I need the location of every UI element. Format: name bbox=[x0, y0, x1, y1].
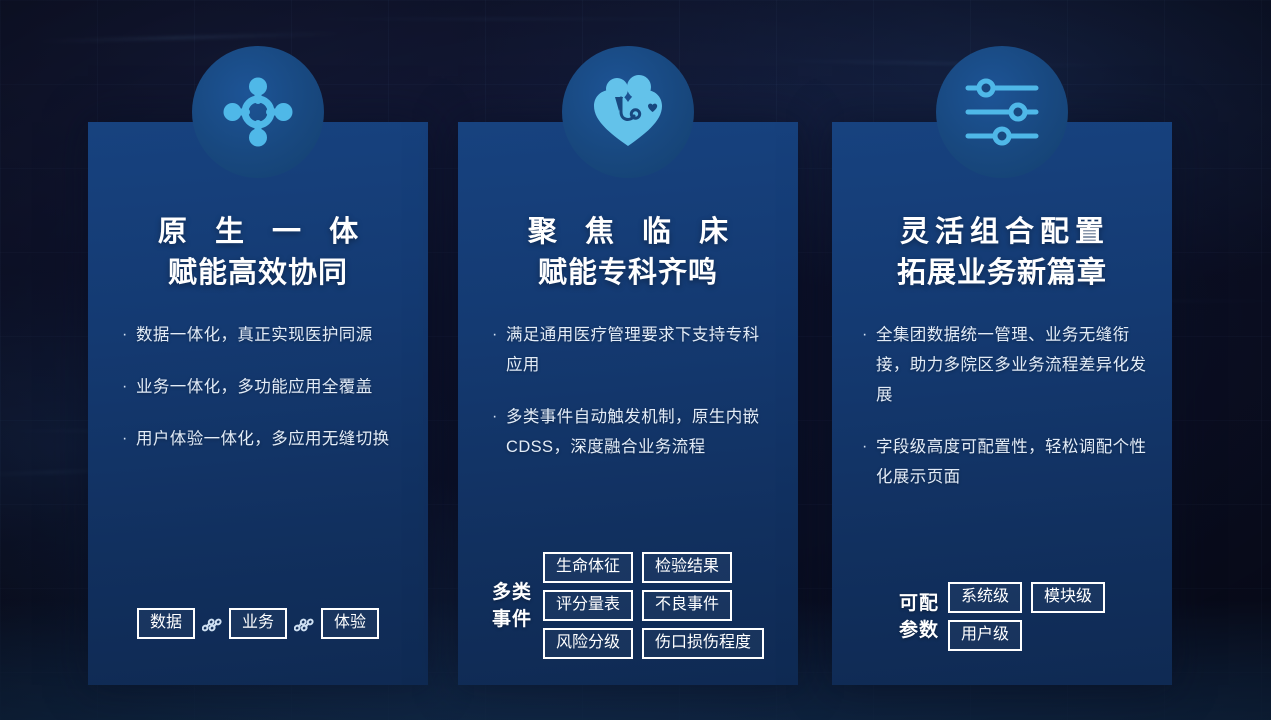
list-item: · 多类事件自动触发机制，原生内嵌 CDSS，深度融合业务流程 bbox=[492, 402, 772, 462]
tag-group-label-line2: 参数 bbox=[899, 617, 939, 644]
card-title: 灵活组合配置 拓展业务新篇章 bbox=[832, 212, 1172, 294]
tag-group: 可配 参数 系统级 模块级 用户级 bbox=[832, 582, 1172, 651]
card-title-line1: 灵活组合配置 bbox=[832, 212, 1172, 253]
list-item: · 全集团数据统一管理、业务无缝衔接，助力多院区多业务流程差异化发展 bbox=[862, 320, 1154, 410]
tag-zone: 可配 参数 系统级 模块级 用户级 bbox=[832, 582, 1172, 651]
tag-group-label-line1: 可配 bbox=[899, 590, 939, 617]
network-node-icon bbox=[192, 46, 324, 178]
bullet-list: · 全集团数据统一管理、业务无缝衔接，助力多院区多业务流程差异化发展 · 字段级… bbox=[862, 320, 1154, 492]
tag-row: 用户级 bbox=[948, 620, 1105, 651]
list-item-text: 数据一体化，真正实现医护同源 bbox=[136, 320, 402, 350]
tag-group-label-line2: 事件 bbox=[492, 606, 532, 633]
list-item: · 满足通用医疗管理要求下支持专科应用 bbox=[492, 320, 772, 380]
bullet-dot-icon: · bbox=[862, 320, 876, 410]
card-title: 原 生 一 体 赋能高效协同 bbox=[88, 212, 428, 294]
link-chain-icon bbox=[201, 616, 223, 632]
tag-row: 系统级 模块级 bbox=[948, 582, 1105, 613]
card-title-line2: 赋能专科齐鸣 bbox=[458, 253, 798, 294]
tag-grid: 系统级 模块级 用户级 bbox=[948, 582, 1105, 651]
card-title-line1: 聚 焦 临 床 bbox=[458, 212, 798, 253]
list-item: · 数据一体化，真正实现医护同源 bbox=[122, 320, 402, 350]
tag-chip[interactable]: 评分量表 bbox=[543, 590, 633, 621]
tag-chip[interactable]: 生命体征 bbox=[543, 552, 633, 583]
feature-card-native-integration: 原 生 一 体 赋能高效协同 · 数据一体化，真正实现医护同源 · 业务一体化，… bbox=[88, 122, 428, 685]
card-title-line2: 赋能高效协同 bbox=[88, 253, 428, 294]
tag-chip[interactable]: 模块级 bbox=[1031, 582, 1105, 613]
list-item-text: 业务一体化，多功能应用全覆盖 bbox=[136, 372, 402, 402]
card-title-line2: 拓展业务新篇章 bbox=[832, 253, 1172, 294]
list-item-text: 满足通用医疗管理要求下支持专科应用 bbox=[506, 320, 772, 380]
list-item: · 用户体验一体化，多应用无缝切换 bbox=[122, 424, 402, 454]
tag-chip[interactable]: 业务 bbox=[229, 608, 287, 639]
link-chain-icon bbox=[293, 616, 315, 632]
tag-row: 生命体征 检验结果 bbox=[543, 552, 764, 583]
card-title-line1: 原 生 一 体 bbox=[88, 212, 428, 253]
tag-chip[interactable]: 风险分级 bbox=[543, 628, 633, 659]
tag-group: 多类 事件 生命体征 检验结果 评分量表 不良事件 风险分级 伤口损伤程度 bbox=[458, 552, 798, 659]
tag-row: 评分量表 不良事件 bbox=[543, 590, 764, 621]
tag-chip[interactable]: 用户级 bbox=[948, 620, 1022, 651]
tag-zone: 多类 事件 生命体征 检验结果 评分量表 不良事件 风险分级 伤口损伤程度 bbox=[458, 552, 798, 659]
list-item-text: 全集团数据统一管理、业务无缝衔接，助力多院区多业务流程差异化发展 bbox=[876, 320, 1154, 410]
bullet-dot-icon: · bbox=[122, 424, 136, 454]
tag-zone: 数据 业务 bbox=[88, 608, 428, 639]
sliders-settings-icon bbox=[936, 46, 1068, 178]
tag-chip[interactable]: 数据 bbox=[137, 608, 195, 639]
list-item-text: 多类事件自动触发机制，原生内嵌 CDSS，深度融合业务流程 bbox=[506, 402, 772, 462]
tag-group-label: 可配 参数 bbox=[899, 590, 939, 644]
list-item-text: 字段级高度可配置性，轻松调配个性化展示页面 bbox=[876, 432, 1154, 492]
doctor-patient-heart-icon bbox=[562, 46, 694, 178]
list-item-text: 用户体验一体化，多应用无缝切换 bbox=[136, 424, 402, 454]
tag-group-label: 多类 事件 bbox=[492, 579, 532, 633]
feature-card-clinical-focus: 聚 焦 临 床 赋能专科齐鸣 · 满足通用医疗管理要求下支持专科应用 · 多类事… bbox=[458, 122, 798, 685]
bullet-dot-icon: · bbox=[492, 402, 506, 462]
bullet-list: · 数据一体化，真正实现医护同源 · 业务一体化，多功能应用全覆盖 · 用户体验… bbox=[122, 320, 402, 454]
bullet-dot-icon: · bbox=[122, 372, 136, 402]
tag-chip[interactable]: 系统级 bbox=[948, 582, 1022, 613]
tag-chip[interactable]: 伤口损伤程度 bbox=[642, 628, 764, 659]
tag-chip[interactable]: 检验结果 bbox=[642, 552, 732, 583]
feature-card-flexible-config: 灵活组合配置 拓展业务新篇章 · 全集团数据统一管理、业务无缝衔接，助力多院区多… bbox=[832, 122, 1172, 685]
tag-group-label-line1: 多类 bbox=[492, 579, 532, 606]
list-item: · 字段级高度可配置性，轻松调配个性化展示页面 bbox=[862, 432, 1154, 492]
bullet-dot-icon: · bbox=[122, 320, 136, 350]
bullet-list: · 满足通用医疗管理要求下支持专科应用 · 多类事件自动触发机制，原生内嵌 CD… bbox=[492, 320, 772, 462]
list-item: · 业务一体化，多功能应用全覆盖 bbox=[122, 372, 402, 402]
tag-grid: 生命体征 检验结果 评分量表 不良事件 风险分级 伤口损伤程度 bbox=[543, 552, 764, 659]
card-title: 聚 焦 临 床 赋能专科齐鸣 bbox=[458, 212, 798, 294]
bullet-dot-icon: · bbox=[862, 432, 876, 492]
tag-chip[interactable]: 体验 bbox=[321, 608, 379, 639]
tag-row: 风险分级 伤口损伤程度 bbox=[543, 628, 764, 659]
tag-chip[interactable]: 不良事件 bbox=[642, 590, 732, 621]
bullet-dot-icon: · bbox=[492, 320, 506, 380]
tag-chain-row: 数据 业务 bbox=[88, 608, 428, 639]
